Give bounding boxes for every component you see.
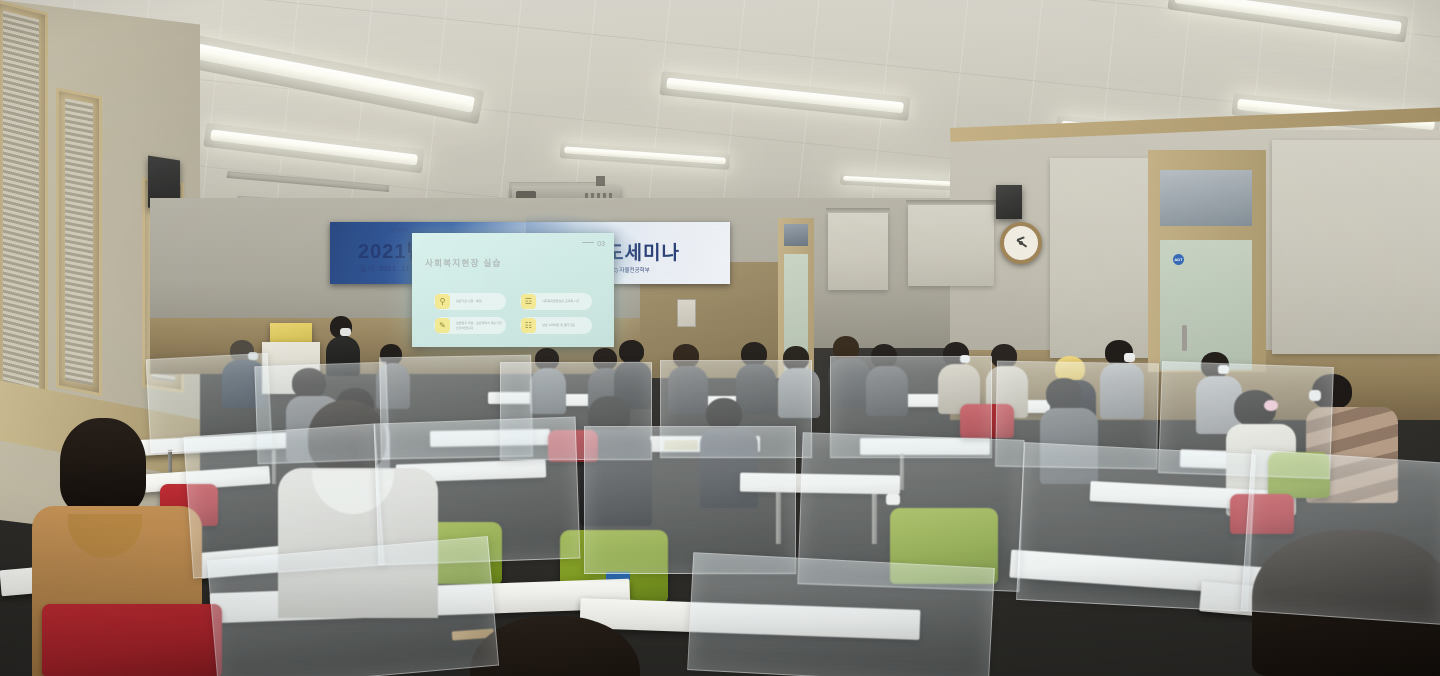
slide-item-label: 실습기관 선정 · 배정 (456, 299, 504, 304)
door-transom (784, 224, 808, 246)
clipboard-icon: ☷ (521, 318, 536, 333)
projection-screen: 03 사회복지현장 실습 ⚲ 실습기관 선정 · 배정 ☲ 사회복지현장실습 교… (412, 233, 614, 347)
acrylic-divider (687, 552, 995, 676)
chair[interactable] (42, 604, 222, 676)
acrylic-divider (207, 536, 499, 676)
wall-speaker (996, 185, 1022, 219)
slide-item-label: 사회복지현장실습 교과목 시간 (542, 299, 590, 304)
door-handle[interactable] (1182, 325, 1187, 351)
slide-number: 03 (582, 241, 605, 248)
slide-title: 사회복지현장 실습 (425, 257, 502, 269)
pencil-icon: ✎ (435, 318, 450, 333)
utensils-icon: ☲ (521, 294, 536, 309)
roller-blind[interactable] (908, 204, 994, 286)
slide-item-label: 실습일지 작성 · 실습계약서 제출기한 안내 바랍니다 (456, 321, 504, 330)
face-mask (340, 328, 351, 336)
window-blinds (56, 88, 102, 397)
face-mask (1124, 353, 1135, 362)
classroom-photo: 대구대학교 2021년 일시: 2021. 11. 11 도세미나 (S-LAC… (0, 0, 1440, 676)
door-transom (1160, 170, 1252, 226)
wall-clock (1000, 222, 1042, 264)
roller-blind[interactable] (1272, 140, 1440, 354)
slide-item-label: 실습 수퍼비전 및 평가기준 (542, 323, 590, 328)
acrylic-divider (584, 426, 796, 574)
acrylic-divider (1016, 442, 1256, 612)
person-search-icon: ⚲ (435, 294, 450, 309)
roller-blind[interactable] (1050, 158, 1152, 358)
roller-blind-bar (826, 208, 890, 213)
acrylic-divider (1241, 449, 1440, 625)
roller-blind[interactable] (828, 212, 888, 290)
window-blinds (0, 0, 48, 433)
roller-blind-bar (906, 200, 996, 205)
adt-sticker: ADT (1173, 254, 1184, 265)
wall-control-panel[interactable] (677, 299, 696, 327)
